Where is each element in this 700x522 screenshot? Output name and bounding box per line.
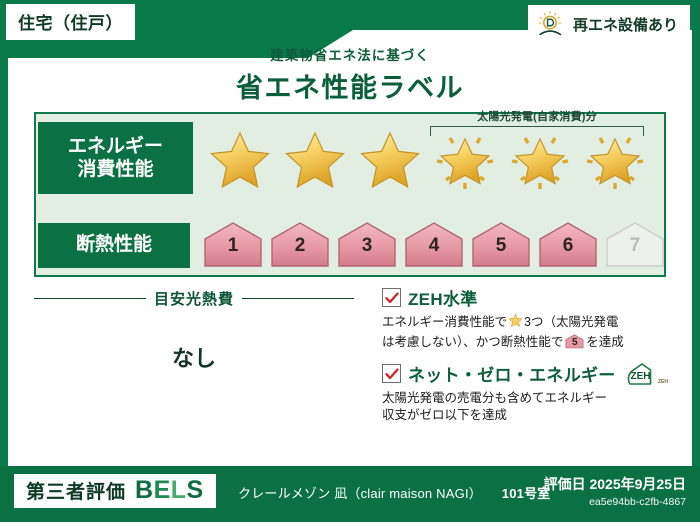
checkbox-checked-icon[interactable] <box>382 288 401 307</box>
star-icon <box>283 131 347 191</box>
solar-generation-note: 太陽光発電(自家消費)分 <box>424 108 650 136</box>
criterion-title-row: ネット・ゼロ・エネルギー ZEH ZEH <box>382 361 672 387</box>
energy-row-label-line1: エネルギー <box>68 135 163 158</box>
insulation-level-number: 2 <box>269 235 331 257</box>
insulation-level-number: 6 <box>537 235 599 257</box>
heading-subtitle: 建築物省エネ法に基づく <box>0 44 700 64</box>
renewable-equipment-badge: 再エネ設備あり <box>528 5 690 43</box>
checkbox-checked-icon[interactable] <box>382 364 401 383</box>
zeh-logo-icon: ZEH ZEH <box>627 361 669 387</box>
criterion-description: 太陽光発電の売電分も含めてエネルギー 収支がゼロ以下を達成 <box>382 390 672 426</box>
criterion-net-zero-energy: ネット・ゼロ・エネルギー ZEH ZEH 太陽光発電の売電分も含めてエネルギー … <box>382 361 672 426</box>
criteria-block: ZEH水準 エネルギー消費性能で3つ（太陽光発電 は考慮しない）、かつ断熱性能で… <box>382 285 672 434</box>
insulation-performance-row: 断熱性能 1 2 <box>34 215 666 275</box>
insulation-row-label: 断熱性能 <box>38 223 190 268</box>
insulation-level-badge: 5 <box>470 221 532 269</box>
utility-cost-title: 目安光熱費 <box>154 288 234 309</box>
criterion-zeh-level: ZEH水準 エネルギー消費性能で3つ（太陽光発電 は考慮しない）、かつ断熱性能で… <box>382 285 672 352</box>
star-solar-icon <box>583 131 647 191</box>
insulation-level-number: 7 <box>604 235 666 257</box>
insulation-level-badge: 2 <box>269 221 331 269</box>
svg-text:ZEH: ZEH <box>630 371 650 382</box>
inline-house-number: 5 <box>565 336 584 350</box>
star-solid <box>280 123 351 193</box>
utility-cost-header: 目安光熱費 <box>34 288 354 309</box>
solar-note-caption: 太陽光発電(自家消費)分 <box>424 108 650 124</box>
criterion-desc-line1: 太陽光発電の売電分も含めてエネルギー <box>382 391 607 405</box>
heading-title: 省エネ性能ラベル <box>0 66 700 105</box>
criterion-desc-part2: は考慮しない）、かつ断熱性能で <box>382 335 563 349</box>
star-icon <box>208 131 272 191</box>
energy-label-root: 住宅（住戸） 再エネ設備あり 建築物省エネ法に基づく <box>0 0 700 522</box>
criterion-description: エネルギー消費性能で3つ（太陽光発電 は考慮しない）、かつ断熱性能で5を達成 <box>382 313 672 352</box>
rule-right <box>242 298 354 299</box>
building-name: クレールメゾン 凪（clair maison NAGI） <box>238 486 482 501</box>
building-info: クレールメゾン 凪（clair maison NAGI） 101号室 <box>238 483 550 502</box>
insulation-row-label-text: 断熱性能 <box>76 233 152 256</box>
insulation-level-scale: 1 2 3 4 <box>202 221 666 269</box>
criterion-desc-line2: 収支がゼロ以下を達成 <box>382 408 507 422</box>
criterion-desc-stars: 3つ（太陽光発電 <box>524 315 618 329</box>
insulation-level-badge: 6 <box>537 221 599 269</box>
solar-bracket <box>430 126 644 136</box>
insulation-level-number: 5 <box>470 235 532 257</box>
label-heading: 建築物省エネ法に基づく 省エネ性能ラベル <box>0 44 700 105</box>
insulation-level-number: 1 <box>202 235 264 257</box>
housing-type-tag: 住宅（住戸） <box>6 4 135 40</box>
energy-row-label-line2: 消費性能 <box>77 158 153 181</box>
criterion-desc-part1: エネルギー消費性能で <box>382 315 507 329</box>
evaluation-date-value: 2025年9月25日 <box>589 476 686 492</box>
insulation-level-badge-inactive: 7 <box>604 221 666 269</box>
bels-certification-mark: 第三者評価 BELS <box>14 474 216 508</box>
criterion-title: ネット・ゼロ・エネルギー <box>408 361 616 386</box>
insulation-level-number: 4 <box>403 235 465 257</box>
svg-text:ZEH: ZEH <box>658 379 668 385</box>
insulation-level-number: 3 <box>336 235 398 257</box>
insulation-level-badge: 4 <box>403 221 465 269</box>
bels-en-label: BELS <box>135 478 204 503</box>
document-id: ea5e94bb-c2fb-4867 <box>544 496 686 508</box>
inline-star-icon <box>508 313 523 334</box>
label-footer: 第三者評価 BELS クレールメゾン 凪（clair maison NAGI） … <box>0 466 700 522</box>
bels-jp-label: 第三者評価 <box>26 477 126 504</box>
energy-row-label: エネルギー 消費性能 <box>38 122 193 194</box>
solar-sun-icon <box>536 10 566 38</box>
star-solar-icon <box>433 131 497 191</box>
renewable-badge-label: 再エネ設備あり <box>573 14 678 35</box>
insulation-level-badge: 3 <box>336 221 398 269</box>
insulation-level-badge: 1 <box>202 221 264 269</box>
criterion-title: ZEH水準 <box>408 285 478 310</box>
evaluation-date-label: 評価日 <box>544 476 586 492</box>
evaluation-date: 評価日 2025年9月25日 <box>544 474 686 494</box>
star-icon <box>358 131 422 191</box>
star-solid <box>205 123 276 193</box>
criterion-desc-part3: を達成 <box>586 335 624 349</box>
star-solid <box>355 123 426 193</box>
utility-cost-value: なし <box>34 341 354 373</box>
star-solar-icon <box>508 131 572 191</box>
utility-cost-block: 目安光熱費 なし <box>34 288 354 373</box>
rule-left <box>34 298 146 299</box>
criterion-title-row: ZEH水準 <box>382 285 672 310</box>
inline-house-badge-icon: 5 <box>565 334 584 349</box>
evaluation-date-block: 評価日 2025年9月25日 ea5e94bb-c2fb-4867 <box>544 474 686 508</box>
